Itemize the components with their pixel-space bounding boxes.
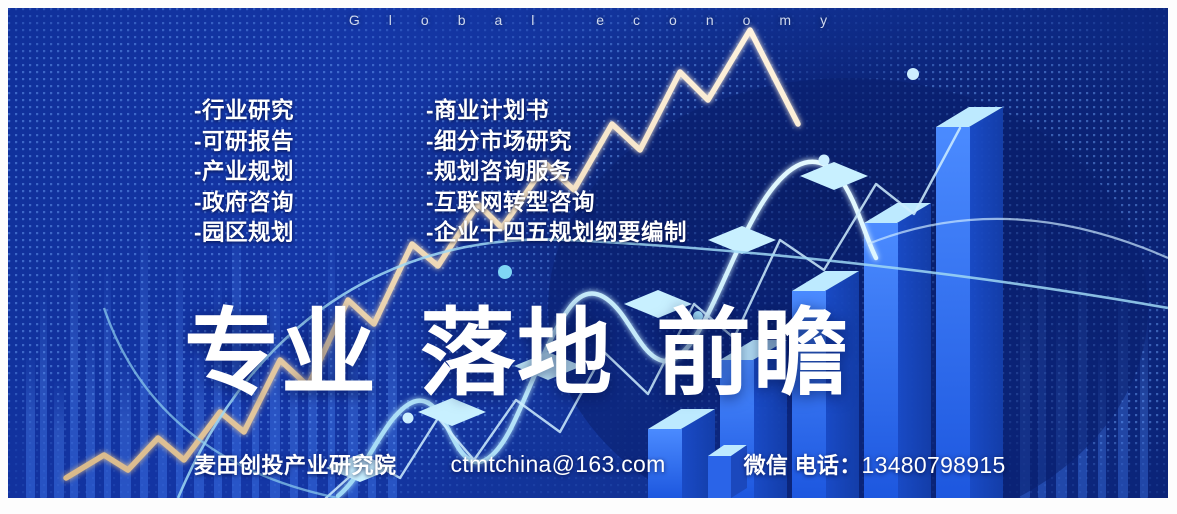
- node-dot-2: [907, 68, 919, 80]
- service-item: -商业计划书: [426, 96, 687, 127]
- phone-label: 微信 电话：: [744, 453, 862, 478]
- banner-stage: Global economy -行业研究 -可研报告 -产业规划 -政府咨询 -…: [0, 0, 1177, 514]
- service-list-right: -商业计划书 -细分市场研究 -规划咨询服务 -互联网转型咨询 -企业十四五规划…: [426, 96, 687, 249]
- header-word: Global economy: [8, 12, 1168, 42]
- marketing-banner: Global economy -行业研究 -可研报告 -产业规划 -政府咨询 -…: [8, 8, 1168, 498]
- email-address[interactable]: ctmtchina@163.com: [451, 451, 666, 478]
- service-item: -行业研究: [194, 96, 294, 127]
- service-item: -可研报告: [194, 127, 294, 158]
- chart-graphics-layer: [8, 8, 1168, 498]
- headline-word-1: 专业: [184, 304, 378, 404]
- service-item: -园区规划: [194, 218, 294, 249]
- node-dot-1: [498, 265, 512, 279]
- phone-number[interactable]: 13480798915: [862, 452, 1006, 478]
- headline-word-2: 落地: [420, 304, 614, 404]
- service-item: -细分市场研究: [426, 127, 687, 158]
- service-item: -产业规划: [194, 157, 294, 188]
- service-list-left: -行业研究 -可研报告 -产业规划 -政府咨询 -园区规划: [194, 96, 294, 249]
- phone-block: 微信 电话：13480798915: [744, 448, 1006, 480]
- node-dot-3: [403, 413, 414, 424]
- contact-row: 麦田创投产业研究院 ctmtchina@163.com 微信 电话：134807…: [194, 448, 1006, 480]
- service-item: -互联网转型咨询: [426, 188, 687, 219]
- service-item: -规划咨询服务: [426, 157, 687, 188]
- service-item: -政府咨询: [194, 188, 294, 219]
- organization-name: 麦田创投产业研究院: [194, 448, 397, 480]
- service-item: -企业十四五规划纲要编制: [426, 218, 687, 249]
- node-dot-4: [819, 155, 830, 166]
- headline-slogan: 专业落地前瞻: [184, 304, 850, 404]
- headline-word-3: 前瞻: [656, 304, 850, 404]
